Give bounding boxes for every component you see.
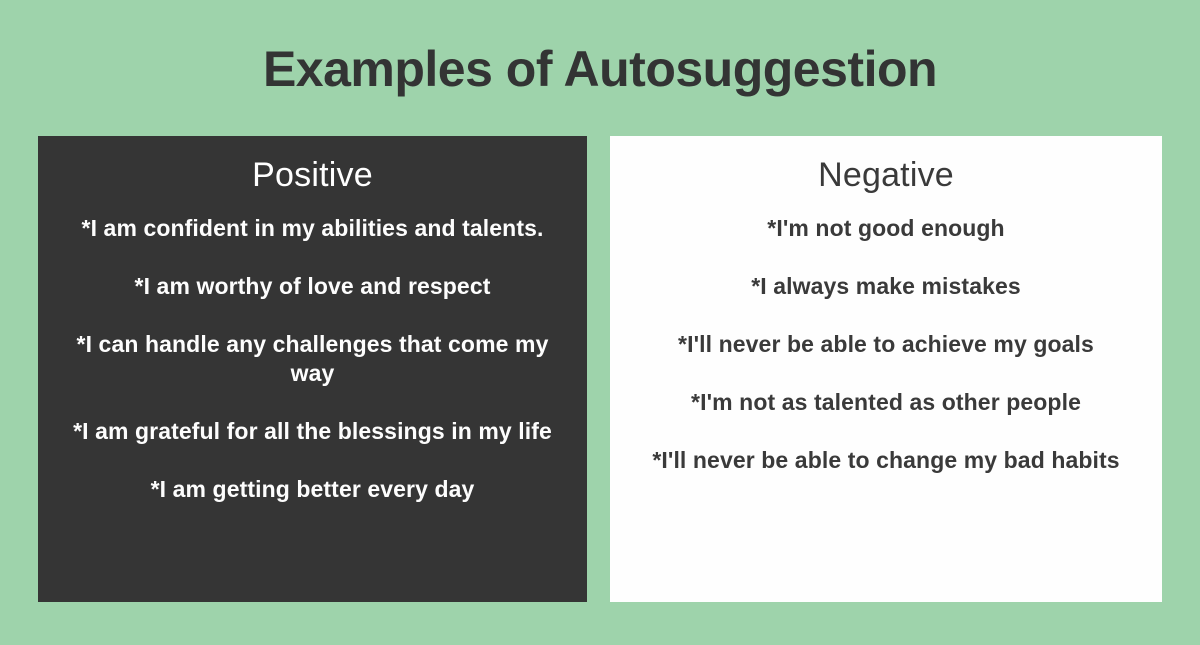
list-item: *I am worthy of love and respect bbox=[52, 272, 573, 301]
negative-affirmation-list: *I'm not good enough *I always make mist… bbox=[624, 214, 1148, 475]
list-item: *I'm not as talented as other people bbox=[624, 388, 1148, 417]
negative-panel-heading: Negative bbox=[624, 154, 1148, 196]
list-item: *I am getting better every day bbox=[52, 475, 573, 504]
list-item: *I am confident in my abilities and tale… bbox=[52, 214, 573, 243]
page-title: Examples of Autosuggestion bbox=[0, 40, 1200, 98]
list-item: *I'll never be able to achieve my goals bbox=[624, 330, 1148, 359]
positive-panel: Positive *I am confident in my abilities… bbox=[38, 136, 587, 602]
slide-canvas: Examples of Autosuggestion Positive *I a… bbox=[0, 0, 1200, 645]
list-item: *I am grateful for all the blessings in … bbox=[52, 417, 573, 446]
list-item: *I can handle any challenges that come m… bbox=[52, 330, 573, 388]
list-item: *I'm not good enough bbox=[624, 214, 1148, 243]
positive-affirmation-list: *I am confident in my abilities and tale… bbox=[52, 214, 573, 504]
list-item: *I always make mistakes bbox=[624, 272, 1148, 301]
list-item: *I'll never be able to change my bad hab… bbox=[624, 446, 1148, 475]
positive-panel-heading: Positive bbox=[52, 154, 573, 196]
negative-panel: Negative *I'm not good enough *I always … bbox=[610, 136, 1162, 602]
